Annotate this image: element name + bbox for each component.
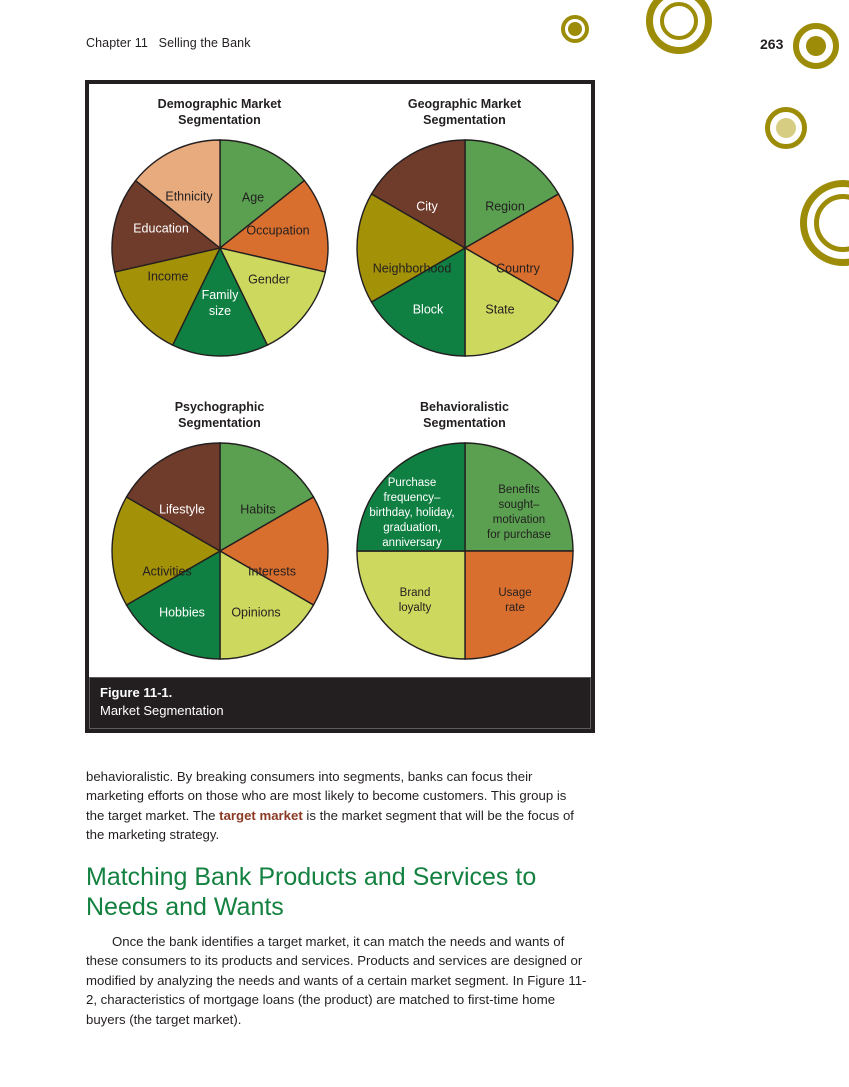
decorative-circle-dot-mid [776,118,796,138]
chart-geographic-svg-wrap: Region Country State Block Neighborhood … [342,134,587,362]
decorative-circle-dot-small-top [568,22,582,36]
keyword-target-market: target market [219,808,303,823]
pie-slice-label-interests: Interests [248,564,296,578]
pie-psychographic: Habits Interests Opinions Hobbies Activi… [106,437,334,665]
pie-slice-label-ethnicity: Ethnicity [165,189,213,203]
chart-demographic-svg-wrap: Age Occupation Gender Familysize Income … [97,134,342,362]
paragraph-matching: Once the bank identifies a target market… [86,932,588,1029]
pie-slice-label-education: Education [133,221,189,235]
pie-slice-label-age: Age [241,190,263,204]
pie-slice-label-activities: Activities [142,564,191,578]
chart-psychographic: Psychographic Segmentation Habits Intere… [97,399,342,689]
header-rule [86,62,786,63]
pie-slice-label-block: Block [412,302,443,316]
pie-slice-label-region: Region [485,199,525,213]
chart-geographic-title: Geographic Market Segmentation [342,96,587,128]
figure-11-1: Demographic Market Segmentation Age Occu… [85,80,595,733]
chart-behavioralistic: Behavioralistic Segmentation Benefitssou… [342,399,587,689]
section-heading: Matching Bank Products and Services to N… [86,862,606,922]
chart-psychographic-svg-wrap: Habits Interests Opinions Hobbies Activi… [97,437,342,665]
decorative-circle-dot-pagenum [806,36,826,56]
pie-slice-label-city: City [416,199,438,213]
pie-slice-label-hobbies: Hobbies [159,605,205,619]
page-number: 263 [760,36,783,52]
pie-behavioralistic: Benefitssought–motivationfor purchase Us… [351,437,579,665]
pie-slice-label-opinions: Opinions [231,605,280,619]
decorative-circle-ring-large-top-inner [660,2,698,40]
pie-slice-label-state: State [485,302,514,316]
pie-slice-label-neighborhood: Neighborhood [372,261,451,275]
running-head: Chapter 11 Selling the Bank [86,36,251,50]
figure-plate: Demographic Market Segmentation Age Occu… [89,84,591,681]
pie-demographic: Age Occupation Gender Familysize Income … [106,134,334,362]
figure-caption-subtitle: Market Segmentation [100,702,590,720]
chart-demographic-title: Demographic Market Segmentation [97,96,342,128]
figure-caption-bar: Figure 11-1. Market Segmentation [89,677,591,729]
paragraph-segments: behavioralistic. By breaking consumers i… [86,767,588,845]
pie-slice-label-income: Income [147,269,188,283]
chart-geographic: Geographic Market Segmentation Region Co… [342,96,587,386]
chart-psychographic-title: Psychographic Segmentation [97,399,342,431]
chart-behavioralistic-title: Behavioralistic Segmentation [342,399,587,431]
pie-slice-label-lifestyle: Lifestyle [159,502,205,516]
chart-demographic: Demographic Market Segmentation Age Occu… [97,96,342,386]
pie-slice-label-habits: Habits [240,502,275,516]
pie-slice-label-gender: Gender [248,272,290,286]
paragraph-2-text: Once the bank identifies a target market… [86,934,586,1027]
chart-behavioralistic-svg-wrap: Benefitssought–motivationfor purchase Us… [342,437,587,665]
pie-slice-label-occupation: Occupation [246,223,309,237]
pie-geographic: Region Country State Block Neighborhood … [351,134,579,362]
pie-slice-label-country: Country [496,261,541,275]
figure-caption-title: Figure 11-1. [100,684,590,702]
